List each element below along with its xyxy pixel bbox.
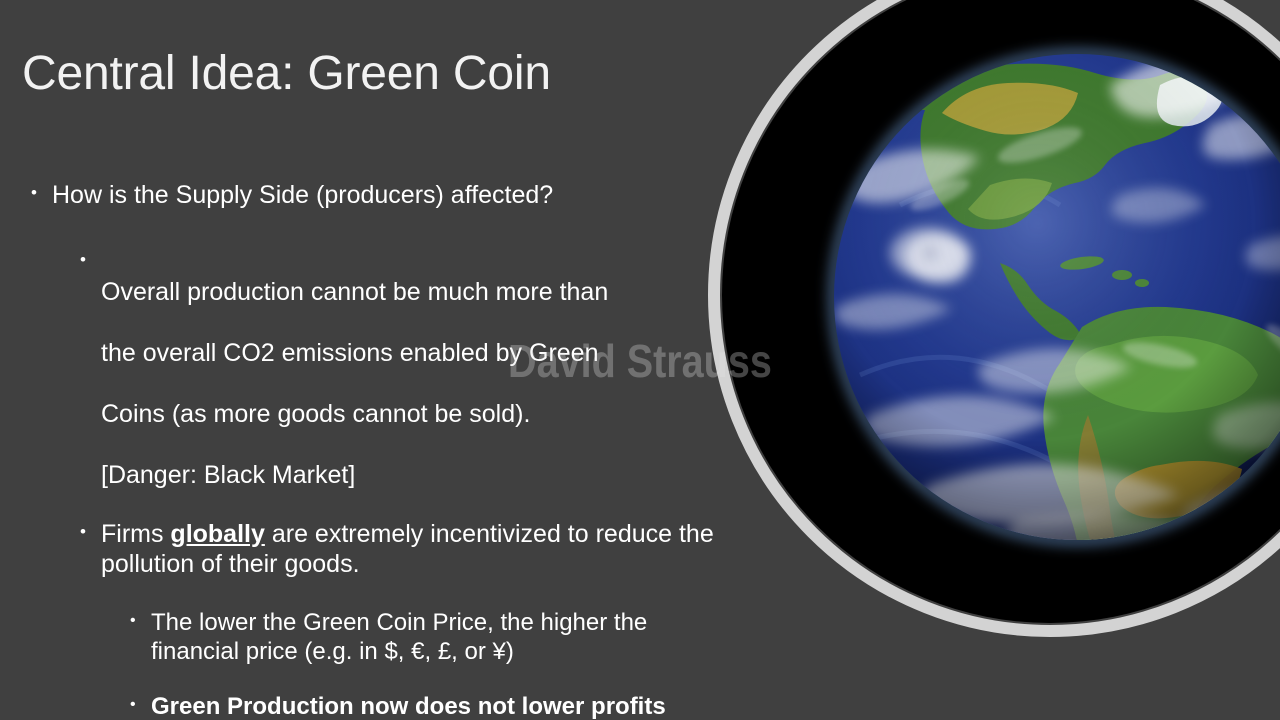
bullet-icon: • — [130, 692, 150, 718]
text-pre: Firms — [101, 520, 170, 548]
earth-globe — [825, 45, 1280, 599]
bullet-level2-text: Firms globally are extremely incentivize… — [101, 519, 740, 580]
bullet-icon: • — [80, 247, 100, 273]
line-3: Coins (as more goods cannot be sold). — [101, 400, 530, 428]
bullet-level2-production: • Overall production cannot be much more… — [0, 247, 740, 491]
line-2: the overall CO2 emissions enabled by Gre… — [101, 339, 599, 367]
bullet-level1-question: • How is the Supply Side (producers) aff… — [0, 180, 740, 211]
space-disc — [722, 0, 1280, 623]
cloud-hurricane — [890, 227, 971, 283]
bullet-level3-profits: • Green Production now does not lower pr… — [0, 692, 740, 720]
decorative-ring-arc — [714, 0, 1280, 631]
slide-canvas: Central Idea: Green Coin • How is the Su… — [0, 0, 1280, 720]
bullet-level3-text: Green Production now does not lower prof… — [151, 692, 740, 720]
bullet-level2-text: Overall production cannot be much more t… — [101, 247, 740, 491]
land-north-america — [920, 64, 1207, 230]
text-pre: Green Production now does not lower prof… — [151, 693, 666, 720]
land-greenland — [1157, 76, 1222, 126]
earth-circle-graphic — [690, 0, 1280, 645]
bullet-icon: • — [130, 608, 150, 634]
bullet-level3-text: The lower the Green Coin Price, the high… — [151, 608, 740, 667]
text-emphasis-globally: globally — [170, 520, 264, 548]
bullet-icon: • — [80, 519, 100, 545]
bullet-level3-price: • The lower the Green Coin Price, the hi… — [0, 608, 740, 667]
bullet-level2-firms: • Firms globally are extremely incentivi… — [0, 519, 740, 580]
line-1: Overall production cannot be much more t… — [101, 278, 608, 306]
slide-body: • How is the Supply Side (producers) aff… — [0, 180, 740, 720]
line-4: [Danger: Black Market] — [101, 461, 355, 489]
land-south-america — [1043, 307, 1280, 600]
slide-title: Central Idea: Green Coin — [22, 44, 682, 105]
bullet-icon: • — [31, 180, 51, 206]
land-central-america — [1000, 263, 1082, 340]
bullet-level1-text: How is the Supply Side (producers) affec… — [52, 180, 740, 211]
